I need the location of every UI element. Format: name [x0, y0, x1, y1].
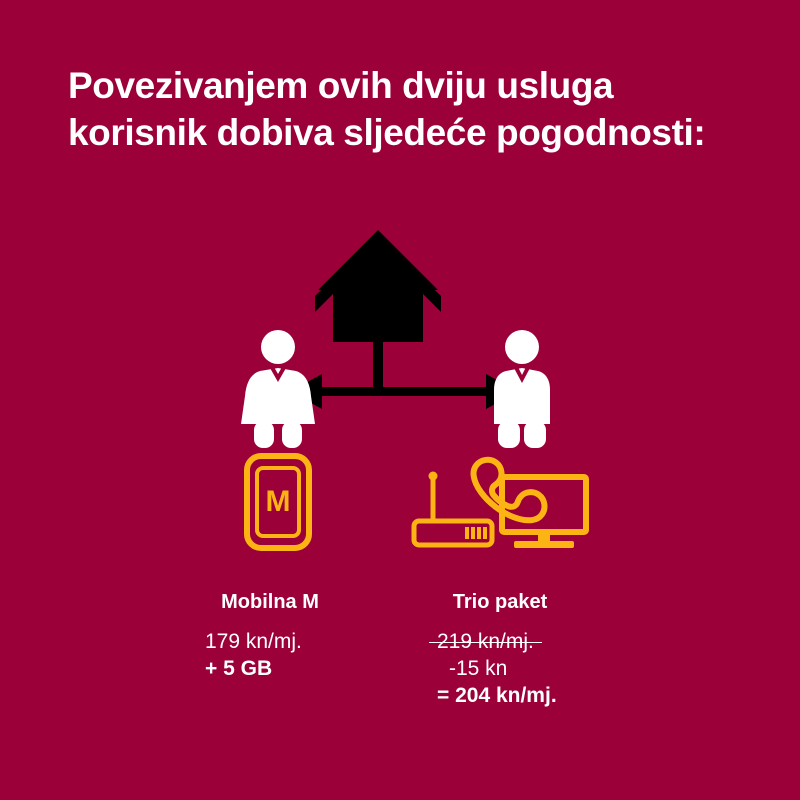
price-line-original: 219 kn/mj.: [437, 628, 534, 655]
connection-diagram: [230, 228, 570, 448]
price-line-total: = 204 kn/mj.: [437, 682, 637, 709]
page-title: Povezivanjem ovih dviju usluga korisnik …: [68, 62, 768, 156]
person-male-icon: [494, 330, 550, 448]
router-icon: [414, 472, 492, 546]
mobile-phone-m-icon: M: [243, 452, 313, 552]
trio-bundle-icon: [410, 455, 590, 552]
product-title-mobilna-m: Mobilna M: [210, 590, 330, 614]
headline-line-2: korisnik dobiva sljedeće pogodnosti:: [68, 109, 768, 156]
house-icon: [315, 230, 441, 342]
phone-m-letter: M: [266, 485, 291, 518]
price-block-trio-paket: 219 kn/mj. -15 kn = 204 kn/mj.: [437, 628, 637, 709]
headline-line-1: Povezivanjem ovih dviju usluga: [68, 62, 768, 109]
price-block-mobilna-m: 179 kn/mj. + 5 GB: [205, 628, 385, 682]
price-line: 179 kn/mj.: [205, 628, 385, 655]
price-line: + 5 GB: [205, 655, 385, 682]
double-arrow-icon: [290, 374, 518, 409]
product-title-trio-paket: Trio paket: [440, 590, 560, 614]
telephone-handset-icon: [472, 455, 547, 527]
infographic-canvas: Povezivanjem ovih dviju usluga korisnik …: [0, 0, 800, 800]
price-line-discount: -15 kn: [437, 655, 637, 682]
person-female-icon: [241, 330, 315, 448]
